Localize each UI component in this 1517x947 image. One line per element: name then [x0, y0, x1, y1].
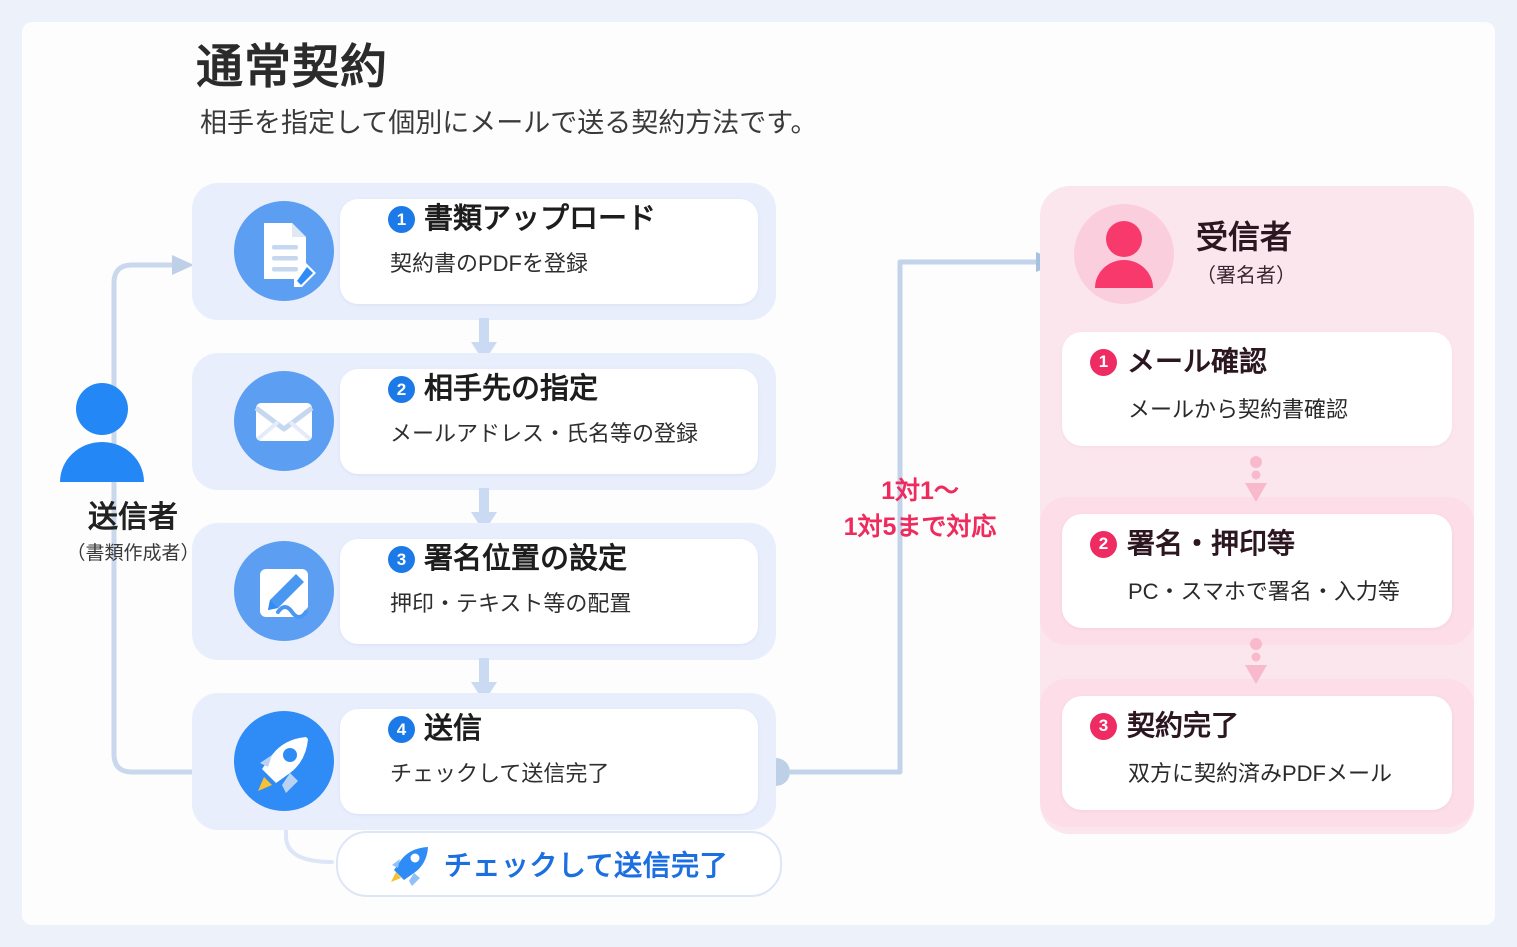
receiver-step-heading: 2 署名・押印等 [1090, 530, 1295, 558]
receiver-step-title: 署名・押印等 [1127, 530, 1295, 558]
sender-step-4[interactable]: 4 送信 チェックして送信完了 [192, 693, 776, 830]
step-number-badge: 4 [388, 716, 415, 743]
receiver-flow-arrow [1242, 456, 1270, 504]
page-subtitle: 相手を指定して個別にメールで送る契約方法です。 [200, 101, 818, 140]
step-title: 書類アップロード [424, 205, 656, 234]
person-icon [1074, 204, 1174, 304]
step-number-badge: 2 [388, 376, 415, 403]
receiver-step-title: 契約完了 [1127, 712, 1239, 740]
receiver-step-number-badge: 1 [1090, 349, 1117, 376]
step-text: 4 送信 チェックして送信完了 [388, 715, 609, 788]
step-text: 1 書類アップロード 契約書のPDFを登録 [388, 205, 656, 278]
receiver-step-3[interactable]: 3 契約完了 双方に契約済みPDFメール [1062, 696, 1452, 810]
receiver-flow-arrow [1242, 638, 1270, 686]
sender-name: 送信者 [48, 492, 218, 536]
capacity-label-line1: 1対1〜 [820, 474, 1020, 510]
receiver-name: 受信者 [1196, 220, 1296, 255]
step-heading: 1 書類アップロード [388, 205, 656, 234]
send-complete-pill[interactable]: チェックして送信完了 [336, 831, 782, 897]
receiver-step-description: PC・スマホで署名・入力等 [1128, 574, 1400, 606]
step-description: メールアドレス・氏名等の登録 [390, 416, 698, 448]
receiver-step-description: 双方に契約済みPDFメール [1128, 756, 1392, 788]
step-title: 署名位置の設定 [424, 545, 627, 574]
step-description: チェックして送信完了 [390, 756, 609, 788]
step-number-badge: 3 [388, 546, 415, 573]
rocket-icon [234, 711, 334, 811]
step-description: 契約書のPDFを登録 [390, 246, 656, 278]
receiver-step-description: メールから契約書確認 [1128, 392, 1348, 424]
step-description: 押印・テキスト等の配置 [390, 586, 631, 618]
receiver-step-title: メール確認 [1127, 348, 1267, 376]
step-title: 相手先の指定 [424, 375, 598, 404]
document-upload-icon [234, 201, 334, 301]
capacity-label-line2: 1対5まで対応 [820, 510, 1020, 546]
diagram-canvas: 通常契約 相手を指定して個別にメールで送る契約方法です。 送信者 （書類作成者） [0, 0, 1517, 947]
pill-label: チェックして送信完了 [444, 844, 728, 884]
step-text: 2 相手先の指定 メールアドレス・氏名等の登録 [388, 375, 698, 448]
page-title: 通常契約 [196, 28, 388, 97]
signature-pen-icon [234, 541, 334, 641]
receiver-step-2[interactable]: 2 署名・押印等 PC・スマホで署名・入力等 [1062, 514, 1452, 628]
sender-step-1[interactable]: 1 書類アップロード 契約書のPDFを登録 [192, 183, 776, 320]
capacity-label: 1対1〜 1対5まで対応 [820, 474, 1020, 545]
receiver-step-heading: 3 契約完了 [1090, 712, 1239, 740]
step-heading: 4 送信 [388, 715, 609, 744]
receiver-step-1[interactable]: 1 メール確認 メールから契約書確認 [1062, 332, 1452, 446]
rocket-icon [390, 845, 430, 883]
receiver-header: 受信者 （署名者） [1074, 204, 1296, 304]
step-heading: 2 相手先の指定 [388, 375, 698, 404]
receiver-step-number-badge: 3 [1090, 713, 1117, 740]
envelope-icon [234, 371, 334, 471]
receiver-panel: 受信者 （署名者） 1 メール確認 メールから契約書確認 2 署名・押印等 PC… [1040, 186, 1474, 834]
sender-step-2[interactable]: 2 相手先の指定 メールアドレス・氏名等の登録 [192, 353, 776, 490]
step-title: 送信 [424, 715, 482, 744]
step-number-badge: 1 [388, 206, 415, 233]
step-text: 3 署名位置の設定 押印・テキスト等の配置 [388, 545, 631, 618]
receiver-title-group: 受信者 （署名者） [1196, 220, 1296, 288]
receiver-step-number-badge: 2 [1090, 531, 1117, 558]
receiver-step-heading: 1 メール確認 [1090, 348, 1267, 376]
step-heading: 3 署名位置の設定 [388, 545, 631, 574]
receiver-subtitle: （署名者） [1196, 259, 1296, 288]
sender-step-3[interactable]: 3 署名位置の設定 押印・テキスト等の配置 [192, 523, 776, 660]
